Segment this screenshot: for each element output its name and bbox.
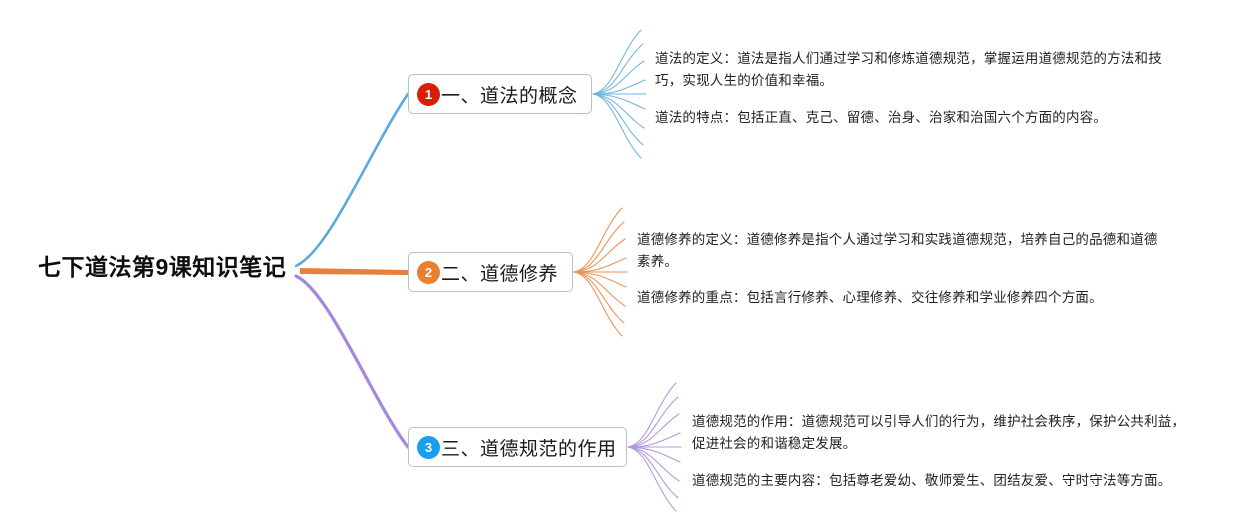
leaf-text-2-1[interactable]: 道德修养的定义：道德修养是指个人通过学习和实践道德规范，培养自己的品德和道德素养… bbox=[637, 229, 1167, 273]
branch-badge-3: 3 bbox=[417, 436, 440, 459]
edge-root-to-branch-1 bbox=[296, 94, 408, 266]
leaf-text-3-2[interactable]: 道德规范的主要内容：包括尊老爱幼、敬师爱生、团结友爱、守时守法等方面。 bbox=[692, 470, 1187, 492]
leaf-text-2-2[interactable]: 道德修养的重点：包括言行修养、心理修养、交往修养和学业修养四个方面。 bbox=[637, 287, 1157, 309]
branch-label-1: 一、道法的概念 bbox=[441, 81, 578, 108]
branch-node-3[interactable]: 3 三、道德规范的作用 bbox=[408, 427, 627, 467]
branch-badge-1: 1 bbox=[417, 83, 440, 106]
fan-branch-1 bbox=[593, 30, 646, 158]
leaf-text-1-1[interactable]: 道法的定义：道法是指人们通过学习和修炼道德规范，掌握运用道德规范的方法和技巧，实… bbox=[655, 48, 1163, 92]
edge-root-to-branch-3 bbox=[296, 276, 408, 447]
edge-root-to-branch-2 bbox=[300, 268, 408, 275]
branch-node-2[interactable]: 2 二、道德修养 bbox=[408, 252, 573, 292]
root-title[interactable]: 七下道法第9课知识笔记 bbox=[38, 252, 286, 282]
branch-label-3: 三、道德规范的作用 bbox=[441, 434, 617, 461]
mindmap-canvas: 七下道法第9课知识笔记 1 一、道法的概念 2 二、道德修养 3 三、道德规范的… bbox=[0, 0, 1251, 530]
leaf-text-3-1[interactable]: 道德规范的作用：道德规范可以引导人们的行为，维护社会秩序，保护公共利益，促进社会… bbox=[692, 411, 1187, 455]
fan-branch-2 bbox=[574, 208, 627, 336]
fan-branch-3 bbox=[628, 383, 681, 511]
leaf-text-1-2[interactable]: 道法的特点：包括正直、克己、留德、治身、治家和治国六个方面的内容。 bbox=[655, 107, 1155, 129]
branch-label-2: 二、道德修养 bbox=[441, 259, 558, 286]
branch-node-1[interactable]: 1 一、道法的概念 bbox=[408, 74, 592, 114]
branch-badge-2: 2 bbox=[417, 261, 440, 284]
